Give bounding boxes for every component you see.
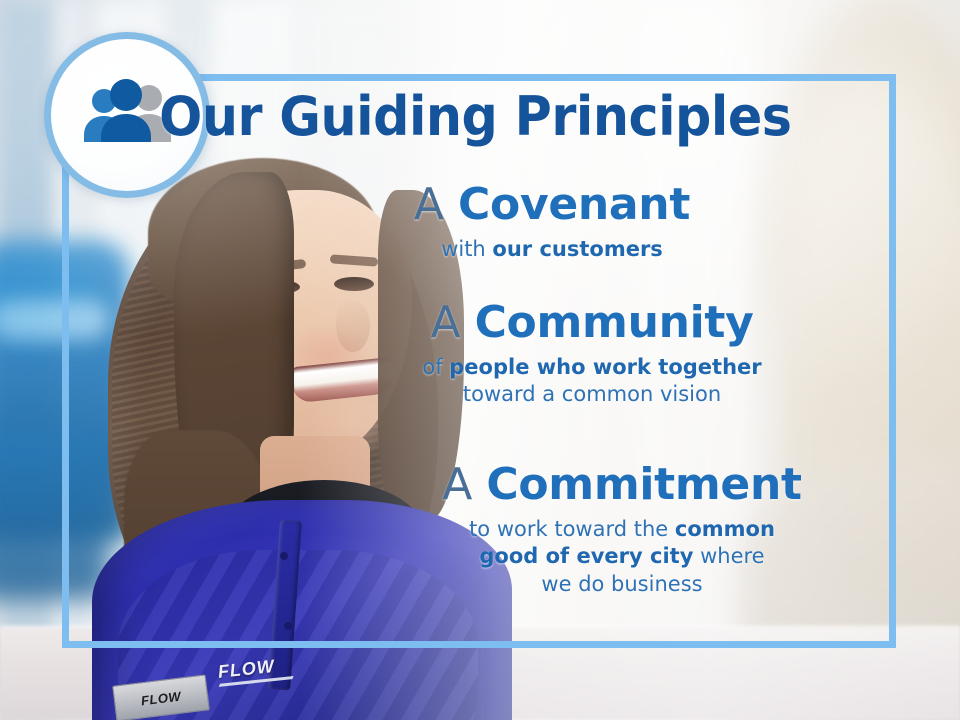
name-badge-text: FLOW (140, 689, 182, 707)
text-content: Our Guiding Principles A Covenant with o… (62, 74, 896, 648)
principle-subtext-3: to work toward the commongood of every c… (362, 516, 882, 599)
principle-subtext-2: of people who work togethertoward a comm… (312, 354, 872, 409)
principle-word-1: Covenant (458, 179, 690, 230)
principle-block-1: A Covenant with our customers (272, 182, 832, 263)
principle-subtext-1: with our customers (272, 236, 832, 264)
principle-word-3: Commitment (486, 459, 801, 510)
principle-heading-1: A Covenant (272, 182, 832, 228)
principle-article-1: A (414, 179, 444, 230)
principle-block-2: A Community of people who work togethert… (312, 300, 872, 409)
principle-heading-3: A Commitment (362, 462, 882, 508)
page-title: Our Guiding Principles (62, 90, 888, 144)
principle-article-2: A (430, 297, 460, 348)
principle-block-3: A Commitment to work toward the commongo… (362, 462, 882, 599)
principle-heading-2: A Community (312, 300, 872, 346)
principle-word-2: Community (475, 297, 754, 348)
principle-article-3: A (442, 459, 472, 510)
banner-graphic: FLOW FLOW (0, 0, 960, 720)
